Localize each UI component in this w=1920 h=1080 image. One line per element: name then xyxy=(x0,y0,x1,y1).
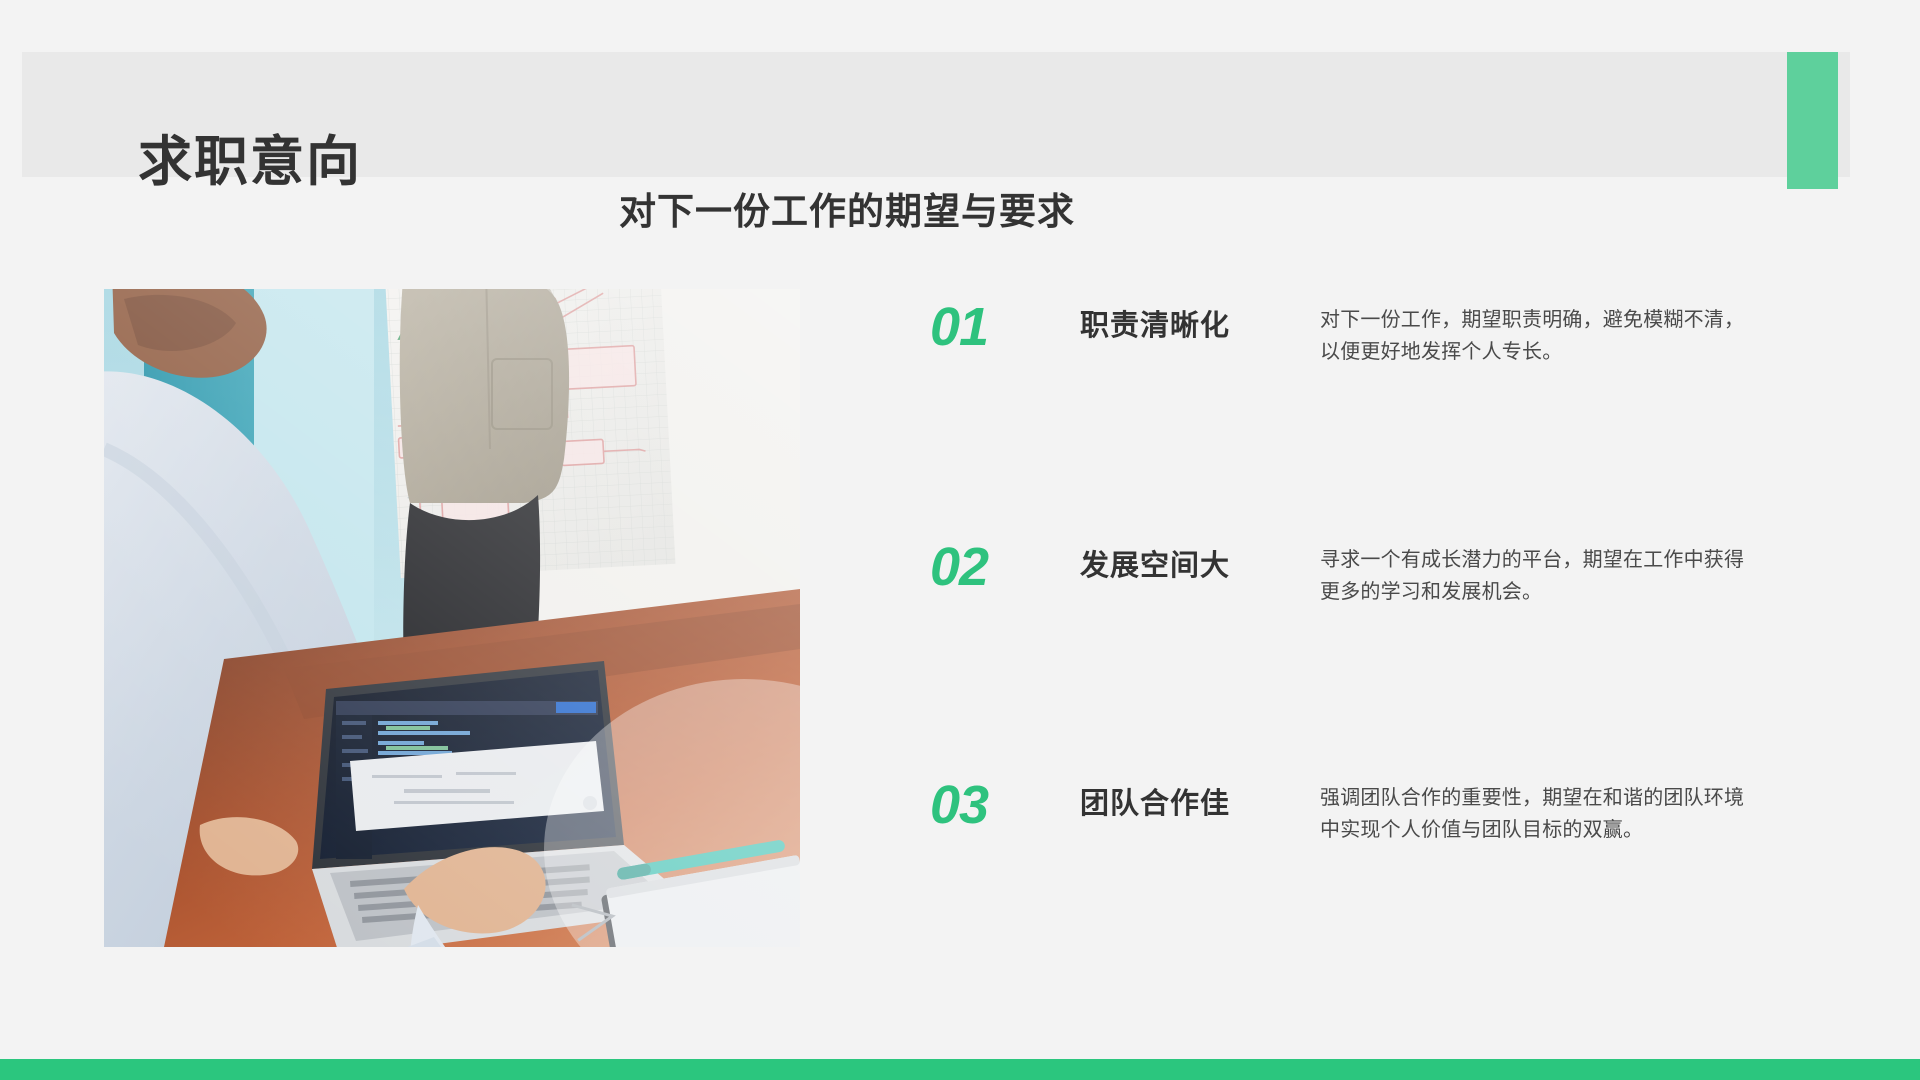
slide-root: 求职意向 对下一份工作的期望与要求 xyxy=(0,0,1920,1080)
page-title: 求职意向 xyxy=(138,135,362,189)
item-title: 职责清晰化 xyxy=(1080,290,1320,341)
item-description: 对下一份工作，期望职责明确，避免模糊不清，以便更好地发挥个人专长。 xyxy=(1320,290,1750,369)
photo-artwork xyxy=(104,289,800,947)
item-title: 团队合作佳 xyxy=(1080,768,1320,819)
page-subtitle: 对下一份工作的期望与要求 xyxy=(0,192,1920,233)
page-subtitle-text: 对下一份工作的期望与要求 xyxy=(619,192,1075,233)
item-description: 寻求一个有成长潜力的平台，期望在工作中获得更多的学习和发展机会。 xyxy=(1320,530,1750,609)
item-title: 发展空间大 xyxy=(1080,530,1320,581)
list-item: 03 团队合作佳 强调团队合作的重要性，期望在和谐的团队环境中实现个人价值与团队… xyxy=(930,768,1810,847)
office-collaboration-photo xyxy=(104,289,800,947)
item-number: 02 xyxy=(930,530,1080,594)
accent-bar-bottom xyxy=(0,1059,1920,1080)
item-description: 强调团队合作的重要性，期望在和谐的团队环境中实现个人价值与团队目标的双赢。 xyxy=(1320,768,1750,847)
header-band: 求职意向 xyxy=(22,52,1850,177)
list-item: 02 发展空间大 寻求一个有成长潜力的平台，期望在工作中获得更多的学习和发展机会… xyxy=(930,530,1810,609)
item-number: 01 xyxy=(930,290,1080,354)
item-number: 03 xyxy=(930,768,1080,832)
accent-bar-top xyxy=(1787,52,1838,189)
list-item: 01 职责清晰化 对下一份工作，期望职责明确，避免模糊不清，以便更好地发挥个人专… xyxy=(930,290,1810,369)
